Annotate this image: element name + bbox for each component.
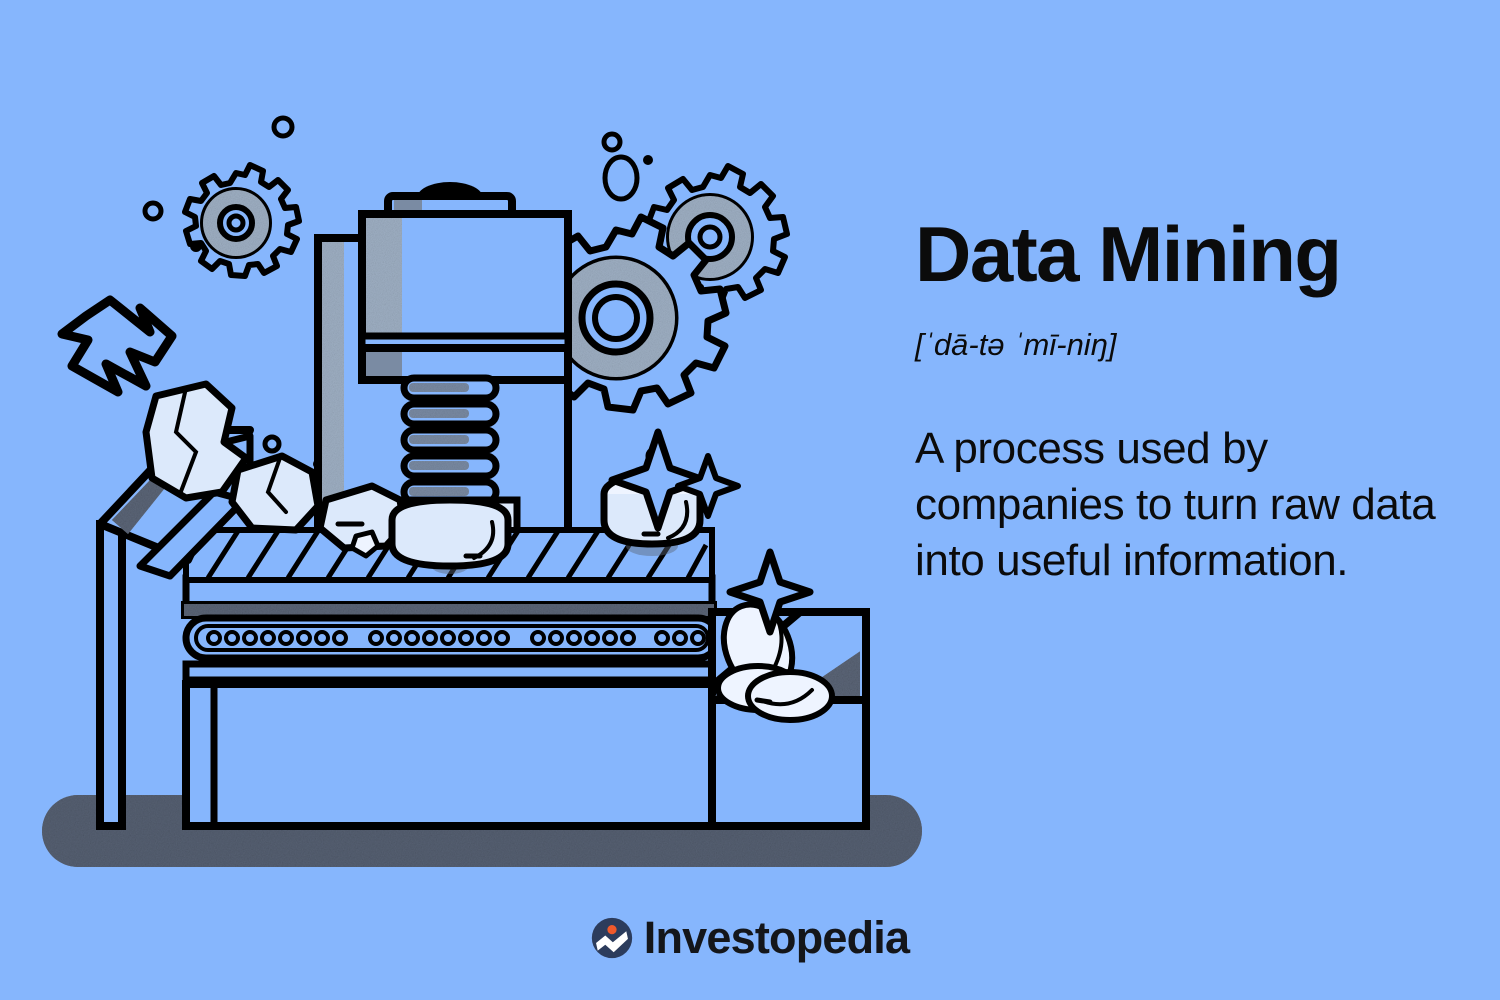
press-piston-bellows xyxy=(404,378,496,502)
page-title: Data Mining xyxy=(915,215,1455,293)
definition-panel: Data Mining [ˈdā-tə ˈmī-niŋ] A process u… xyxy=(915,215,1455,589)
machine-leg-left xyxy=(100,524,122,826)
investopedia-i-mark-icon xyxy=(591,917,633,959)
hydraulic-press xyxy=(362,214,568,380)
gear-small-icon xyxy=(185,165,299,276)
brand-footer: Investopedia xyxy=(0,915,1500,960)
output-bin xyxy=(711,594,866,826)
conveyor-vent-panel xyxy=(186,618,718,658)
lightning-arrow-icon xyxy=(62,300,172,392)
poster-canvas: Data Mining [ˈdā-tə ˈmī-niŋ] A process u… xyxy=(0,0,1500,1000)
polished-puck-pressed xyxy=(392,500,508,574)
machine-cabinet xyxy=(186,664,718,826)
phonetic-pronunciation: [ˈdā-tə ˈmī-niŋ] xyxy=(915,293,1455,363)
definition-text: A process used by companies to turn raw … xyxy=(915,363,1455,589)
data-mining-press-machine-illustration xyxy=(0,0,930,920)
brand-name: Investopedia xyxy=(644,915,909,960)
